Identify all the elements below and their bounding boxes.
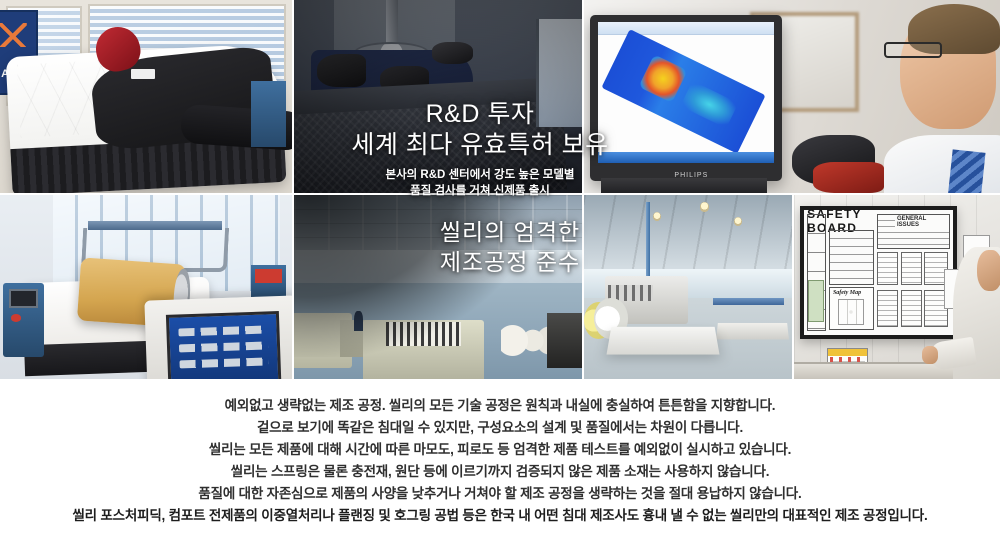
computer-monitor: PHILIPS (590, 15, 781, 181)
scene-dummy-test: ATA (0, 0, 292, 193)
environment-policy-doc (901, 252, 922, 284)
hmi-touchscreen[interactable] (166, 311, 281, 379)
engineer-glasses (884, 42, 942, 57)
worker-head (977, 250, 1000, 290)
windows-taskbar (598, 152, 774, 163)
cutting-table-front (606, 327, 719, 355)
incident-table (829, 230, 874, 285)
photo-factory-sewing-hall (584, 195, 792, 379)
health-safety-policy-doc (901, 290, 922, 327)
general-issues-label: GENERAL ISSUES (895, 216, 949, 228)
dark-material-stack (547, 313, 582, 368)
scene-machine-test (294, 0, 582, 193)
scene-pressure-map: PHILIPS (584, 0, 1000, 193)
green-notice-sheet (808, 280, 824, 322)
ceiling-lamp-1 (653, 212, 661, 221)
photo-mosaic: ATA (0, 0, 1000, 379)
photo-vignette (294, 0, 582, 193)
photo-mattress-machine-test (294, 0, 582, 193)
scene-safety-board: SAFETY BOARD GENERAL ISSUES Safety Map (794, 195, 1000, 379)
safety-map-panel: Safety Map (829, 287, 874, 329)
worker-hand (922, 346, 938, 364)
hmi-row-3 (179, 357, 269, 368)
cutting-table-back (716, 323, 789, 339)
ata-chevron-icon (0, 23, 27, 47)
hmi-row-2 (179, 341, 269, 352)
copy-line-3: 씰리는 모든 제품에 대해 시간에 따른 마모도, 피로도 등 엄격한 제품 테… (0, 439, 1000, 461)
fire-emergency-doc (877, 290, 898, 327)
control-cabinet-display (9, 289, 38, 308)
ceiling-pipe (646, 202, 649, 287)
safety-map-label: Safety Map (833, 290, 861, 296)
pressure-heatmap (602, 29, 767, 154)
conveyor-rail (713, 298, 784, 305)
keyboard (601, 178, 767, 193)
test-rig-frame (251, 81, 286, 147)
heatmap-hotspot (639, 54, 688, 103)
safety-board: SAFETY BOARD GENERAL ISSUES Safety Map (800, 206, 957, 338)
engineer-tie (948, 149, 986, 193)
body-copy: 예외없고 생략없는 제조 공정. 씰리의 모든 기술 공정은 원칙과 내실에 충… (0, 379, 1000, 533)
copy-line-5: 품질에 대한 자존심으로 제품의 사양을 낮추거나 거쳐야 할 제조 공정을 생… (0, 483, 1000, 505)
photo-mattress-durability-dummy-test: ATA (0, 0, 292, 193)
photo-factory-quilting-hall (294, 195, 582, 379)
side-panel-estop[interactable] (255, 269, 282, 283)
dark-gradient-overlay (294, 195, 536, 357)
dummy-badge (131, 69, 154, 79)
promo-page: ATA (0, 0, 1000, 533)
safety-policy-doc (877, 252, 898, 284)
ceiling-lamp-2 (700, 202, 708, 211)
copy-line-6: 씰리 포스처피딕, 컴포트 전제품의 이중열처리나 플랜징 및 호그링 공법 등… (0, 505, 1000, 527)
hmi-console (144, 295, 292, 379)
scene-sewing-hall (584, 195, 792, 379)
monitor-screen (598, 22, 774, 163)
scene-roller-test (0, 195, 292, 379)
scene-factory-hall (294, 195, 582, 379)
copy-line-2: 겉으로 보기에 똑같은 침대일 수 있지만, 구성요소의 설계 및 품질에서는 … (0, 417, 1000, 439)
safety-map-diagram (838, 299, 864, 326)
copy-line-4: 씰리는 스프링은 물론 충전재, 원단 등에 이르기까지 검증되지 않은 제품 … (0, 461, 1000, 483)
heatmap-coolzone (681, 81, 739, 128)
copy-line-1: 예외없고 생략없는 제조 공정. 씰리의 모든 기술 공정은 원칙과 내실에 충… (0, 395, 1000, 417)
general-issues-panel: GENERAL ISSUES (877, 214, 950, 249)
emergency-stop-button[interactable] (11, 314, 21, 321)
photo-pressure-map-analysis: PHILIPS (584, 0, 1000, 193)
photo-safety-board: SAFETY BOARD GENERAL ISSUES Safety Map (794, 195, 1000, 379)
software-titlebar (598, 22, 774, 35)
red-glove-object (813, 162, 884, 193)
control-cabinet (3, 283, 44, 357)
photo-roller-durability-machine (0, 195, 292, 379)
sewing-hall-roof (584, 195, 792, 280)
hmi-row-1 (178, 325, 268, 336)
